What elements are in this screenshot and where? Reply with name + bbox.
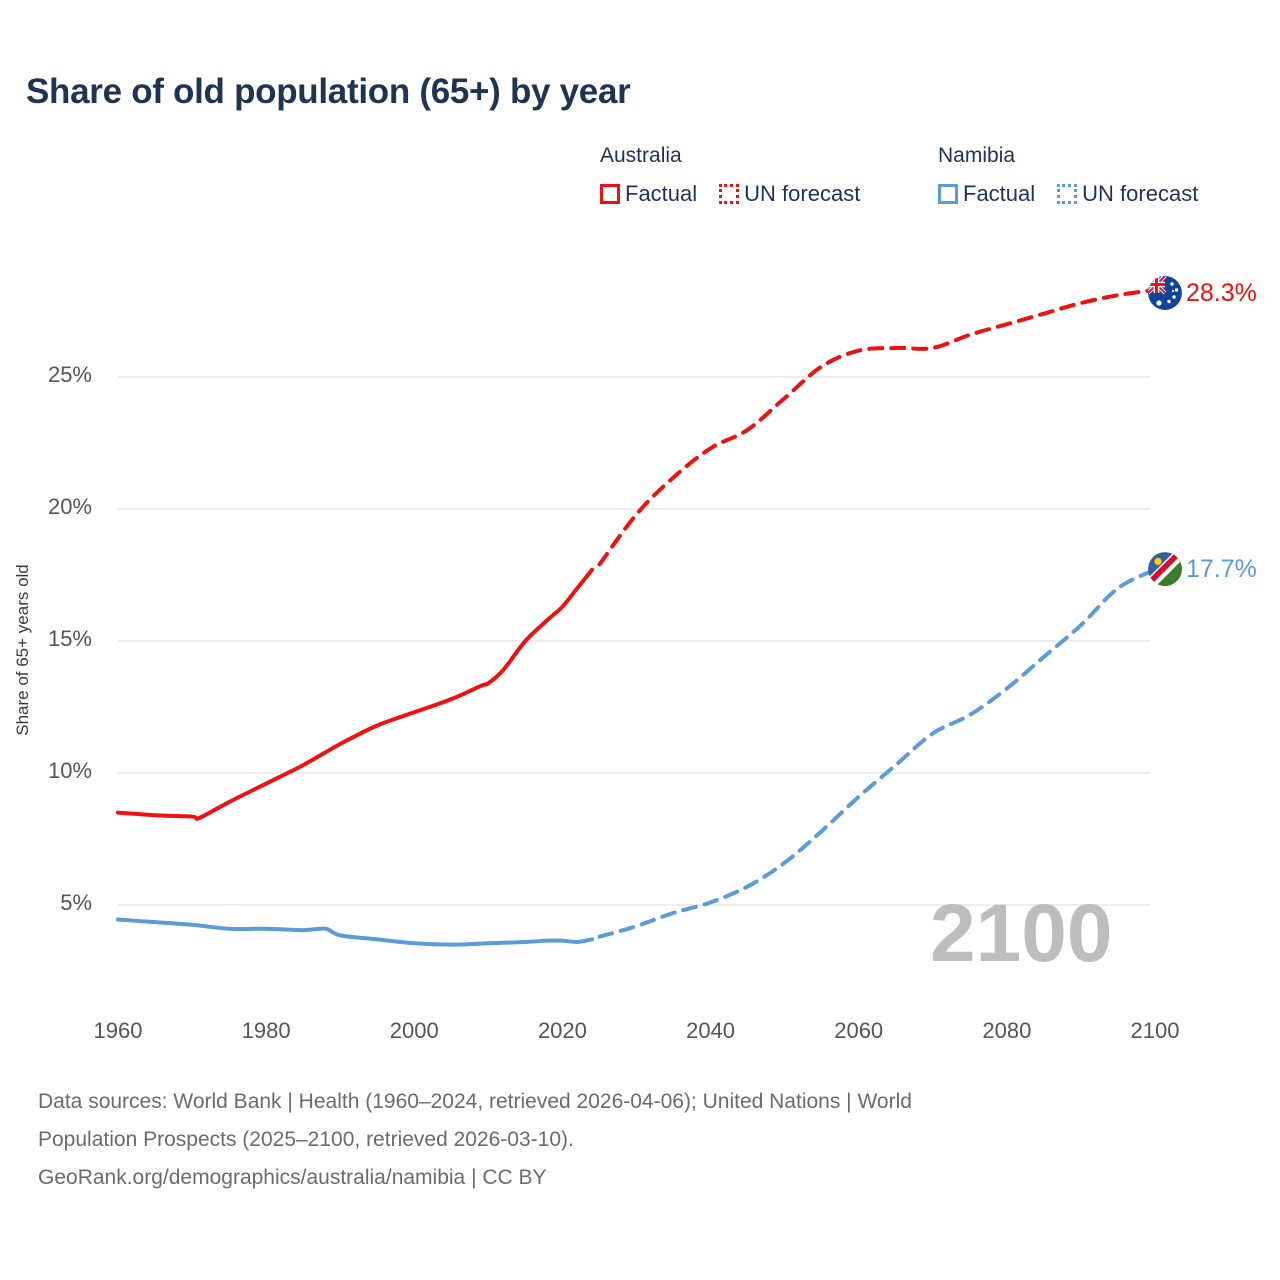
x-tick-label: 2060 [814, 1018, 904, 1044]
namibia-flag-icon [1148, 552, 1182, 586]
series-line [599, 290, 1155, 565]
series-line [118, 920, 592, 945]
footer-line-2: Population Prospects (2025–2100, retriev… [38, 1121, 1218, 1159]
endpoint-value-australia: 28.3% [1186, 279, 1257, 308]
y-tick-label: 20% [12, 494, 92, 520]
x-tick-label: 2100 [1110, 1018, 1200, 1044]
y-tick-label: 10% [12, 758, 92, 784]
y-tick-label: 5% [12, 890, 92, 916]
endpoint-australia[interactable]: 28.3% [1148, 276, 1257, 310]
endpoint-value-namibia: 17.7% [1186, 555, 1257, 584]
australia-flag-icon [1148, 276, 1182, 310]
chart-page: Share of old population (65+) by year Au… [0, 0, 1280, 1280]
endpoint-namibia[interactable]: 17.7% [1148, 552, 1257, 586]
gridlines [118, 377, 1150, 905]
x-tick-label: 2000 [369, 1018, 459, 1044]
series-lines [118, 290, 1155, 945]
x-tick-label: 2040 [666, 1018, 756, 1044]
x-tick-label: 2080 [962, 1018, 1052, 1044]
plot-area: 2100 Share of 65+ years old 5%10%15%20%2… [0, 0, 1280, 1060]
y-tick-label: 15% [12, 626, 92, 652]
year-watermark: 2100 [930, 893, 1112, 975]
x-tick-label: 2020 [517, 1018, 607, 1044]
series-line [118, 570, 592, 819]
footer-line-3[interactable]: GeoRank.org/demographics/australia/namib… [38, 1159, 1218, 1197]
footer-sources: Data sources: World Bank | Health (1960–… [38, 1083, 1218, 1197]
y-tick-label: 25% [12, 362, 92, 388]
x-tick-label: 1960 [73, 1018, 163, 1044]
footer-line-1: Data sources: World Bank | Health (1960–… [38, 1083, 1218, 1121]
series-line [599, 570, 1155, 937]
x-tick-label: 1980 [221, 1018, 311, 1044]
